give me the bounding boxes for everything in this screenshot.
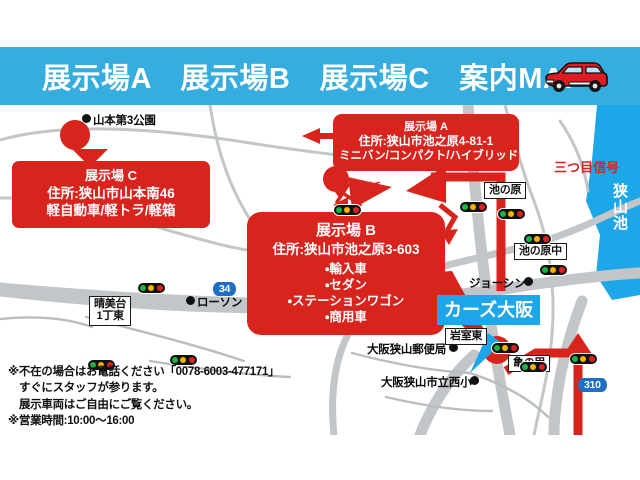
poi-dot-lawson (186, 296, 195, 305)
callout-b-item-0: ・輸入車 (253, 261, 439, 277)
traffic-signal-icon (492, 343, 519, 353)
poi-dot-joshin (524, 277, 533, 286)
callout-a-name: 展示場 A (339, 120, 513, 134)
callout-c-address: 住所:狭山市山本南46 (18, 185, 204, 202)
callout-b-item-3: ・商用車 (253, 309, 439, 325)
route-shield-34: 34 (213, 282, 236, 296)
intersection-label-iwamurohigashi: 岩室東 (445, 328, 487, 345)
footnote-line-2: すぐにスタッフが参ります。 (8, 380, 308, 396)
footnote-block: ※不在の場合はお電話ください「0078-6003-477171」 すぐにスタッフ… (8, 364, 308, 429)
traffic-signal-icon (520, 362, 547, 372)
traffic-signal-icon (540, 265, 567, 275)
traffic-signal-icon (570, 354, 597, 364)
callout-a-address: 住所:狭山市池之原4-81-1 (339, 134, 513, 149)
poi-label-nishi-elementary: 大阪狭山市立西小 (381, 374, 471, 390)
callout-b-item-2: ・ステーションワゴン (253, 293, 439, 309)
footnote-line-3: 展示車両はご自由にご覧ください。 (8, 397, 308, 413)
poi-label-joshin: ジョーシン (469, 275, 525, 291)
intersection-label-ikenohara: 池の原 (484, 182, 526, 199)
traffic-signal-icon (524, 234, 551, 244)
map-poster: 展示場A 展示場B 展示場C 案内MAP (0, 0, 640, 480)
callout-b-name: 展示場 B (253, 221, 439, 240)
poi-label-yamamoto-park: 山本第3公園 (93, 112, 156, 128)
callout-showroom-c[interactable]: 展示場 C 住所:狭山市山本南46 軽自動車/軽トラ/軽箱 (12, 161, 210, 228)
poi-dot-yamamoto-park (82, 114, 91, 123)
intersection-harumidai-line2: 1丁東 (96, 310, 123, 322)
annotation-third-signal: 三つ目信号 (554, 157, 619, 176)
route-shield-310: 310 (578, 378, 607, 392)
footnote-line-1: ※不在の場合はお電話ください「0078-6003-477171」 (8, 364, 308, 380)
intersection-label-ikenoharanaka: 池の原中 (514, 243, 567, 260)
destination-label-cars-osaka: カーズ大阪 (437, 295, 540, 325)
page-title: 展示場A 展示場B 展示場C 案内MAP (42, 55, 584, 97)
lake-label-sayamaike: 狭山池 (612, 183, 627, 231)
callout-b-item-1: ・セダン (253, 277, 439, 293)
intersection-label-harumidai: 晴美台 1丁東 (89, 296, 131, 326)
callout-c-name: 展示場 C (18, 168, 204, 185)
poi-label-lawson: ローソン (197, 294, 242, 310)
footnote-line-4: ※営業時間:10:00〜16:00 (8, 413, 308, 429)
callout-showroom-a[interactable]: 展示場 A 住所:狭山市池之原4-81-1 ミニバン/コンパクト/ハイブリッド (333, 114, 519, 171)
callout-c-categories: 軽自動車/軽トラ/軽箱 (18, 202, 204, 219)
page-header: 展示場A 展示場B 展示場C 案内MAP (0, 47, 640, 105)
red-car-icon (541, 55, 611, 97)
traffic-signal-icon (138, 283, 165, 293)
callout-showroom-b[interactable]: 展示場 B 住所:狭山市池之原3-603 ・輸入車 ・セダン ・ステーションワゴ… (247, 212, 445, 335)
callout-a-categories: ミニバン/コンパクト/ハイブリッド (339, 149, 513, 164)
callout-b-address: 住所:狭山市池之原3-603 (253, 241, 439, 258)
poi-label-post-office: 大阪狭山郵便局 (367, 341, 446, 357)
traffic-signal-icon (460, 202, 487, 212)
intersection-harumidai-line1: 晴美台 (94, 298, 126, 310)
traffic-signal-icon (334, 205, 361, 215)
traffic-signal-icon (498, 209, 525, 219)
annotation-turn-right: 右折 (355, 178, 381, 197)
